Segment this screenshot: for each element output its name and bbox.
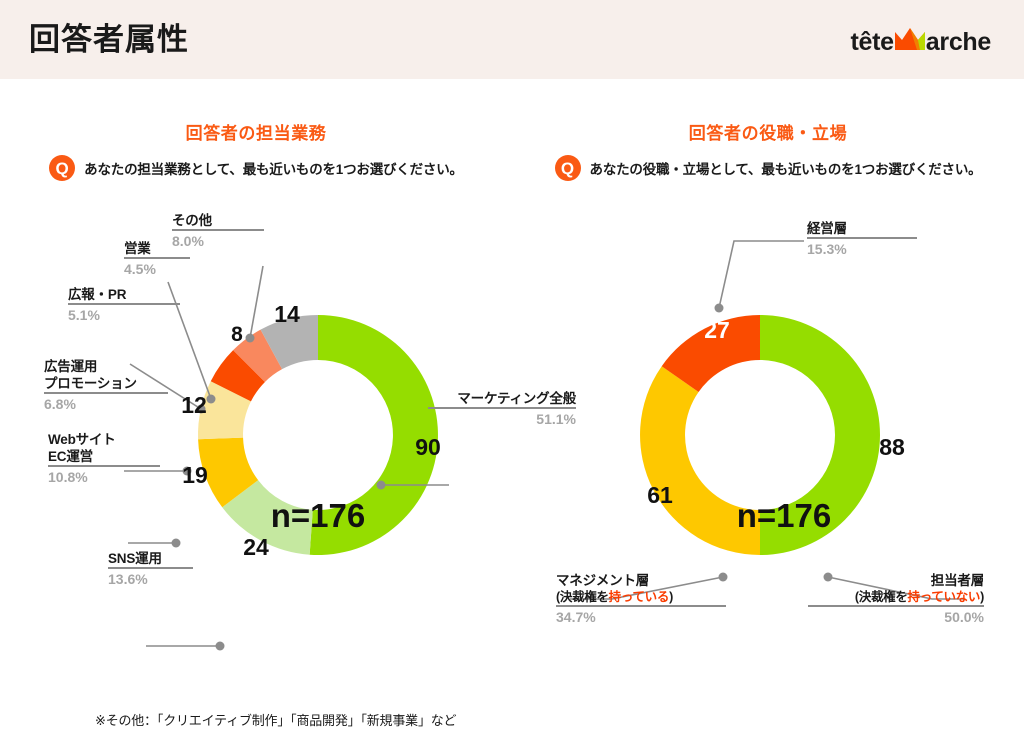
callout-management-title: マネジメント層	[556, 572, 726, 589]
panel-duties: 回答者の担当業務 Q あなたの担当業務として、最も近いものを1つお選びください。	[0, 79, 512, 690]
callout-website-ec-percent: 10.8%	[48, 467, 160, 486]
callout-pr-title: 広報・PR	[68, 286, 180, 303]
center-total-position: n=176	[704, 497, 864, 535]
callout-staff-sub-highlight: 持っていない	[908, 590, 981, 604]
slice-value-marketing: 90	[398, 434, 458, 461]
callout-executive: 経営層 15.3%	[807, 220, 917, 258]
panel-position: 回答者の役職・立場 Q あなたの役職・立場として、最も近いものを1つお選びくださ…	[512, 79, 1024, 690]
callout-sns: SNS運用 13.6%	[108, 550, 193, 588]
callout-ad-promotion: 広告運用 プロモーション 6.8%	[44, 358, 168, 413]
footnote-other: ※その他：「クリエイティブ制作」「商品開発」「新規事業」など	[95, 710, 456, 729]
callout-staff-percent: 50.0%	[808, 607, 984, 626]
slice-value-ad-promotion: 12	[164, 392, 224, 419]
callout-pr: 広報・PR 5.1%	[68, 286, 180, 324]
callout-staff-subtitle: (決裁権を持っていない)	[808, 589, 984, 605]
logo-text-left: tête	[851, 30, 894, 55]
slice-value-management: 61	[630, 482, 690, 509]
callout-website-ec-title-line2: EC運営	[48, 448, 160, 465]
callout-staff-sub-prefix: (決裁権を	[855, 590, 908, 604]
callout-sales-title: 営業	[124, 240, 190, 257]
slice-value-executive: 27	[687, 317, 747, 344]
callout-ad-promotion-percent: 6.8%	[44, 394, 168, 413]
slice-value-staff: 88	[862, 434, 922, 461]
callout-pr-percent: 5.1%	[68, 305, 180, 324]
callout-management-percent: 34.7%	[556, 607, 726, 626]
callout-sales: 営業 4.5%	[124, 240, 190, 278]
callout-management-sub-suffix: )	[669, 590, 673, 604]
callout-website-ec-title-line1: Webサイト	[48, 431, 160, 448]
callout-sns-title: SNS運用	[108, 550, 193, 567]
slice-value-sales: 8	[212, 323, 262, 347]
callout-sns-percent: 13.6%	[108, 569, 193, 588]
callout-management-sub-prefix: (決裁権を	[556, 590, 609, 604]
slice-value-website-ec: 19	[165, 462, 225, 489]
slice-value-sns: 24	[226, 534, 286, 561]
callout-sales-percent: 4.5%	[124, 259, 190, 278]
crown-m-icon	[893, 26, 927, 59]
callout-management-subtitle: (決裁権を持っている)	[556, 589, 726, 605]
callout-ad-promotion-title-line2: プロモーション	[44, 375, 168, 392]
center-total-duties: n=176	[238, 497, 398, 535]
slice-value-other: 14	[257, 301, 317, 328]
callout-management-sub-highlight: 持っている	[609, 590, 669, 604]
callout-executive-title: 経営層	[807, 220, 917, 237]
page-title: 回答者属性	[29, 20, 189, 60]
callout-staff: 担当者層 (決裁権を持っていない) 50.0%	[808, 572, 984, 626]
callout-staff-title: 担当者層	[808, 572, 984, 589]
callout-ad-promotion-title-line1: 広告運用	[44, 358, 168, 375]
callout-other-title: その他	[172, 212, 264, 229]
callout-management: マネジメント層 (決裁権を持っている) 34.7%	[556, 572, 726, 626]
callout-staff-sub-suffix: )	[980, 590, 984, 604]
logo-text-right: arche	[926, 30, 991, 55]
brand-logo: tête arche	[851, 25, 991, 59]
callout-executive-percent: 15.3%	[807, 239, 917, 258]
callout-website-ec: Webサイト EC運営 10.8%	[48, 431, 160, 486]
